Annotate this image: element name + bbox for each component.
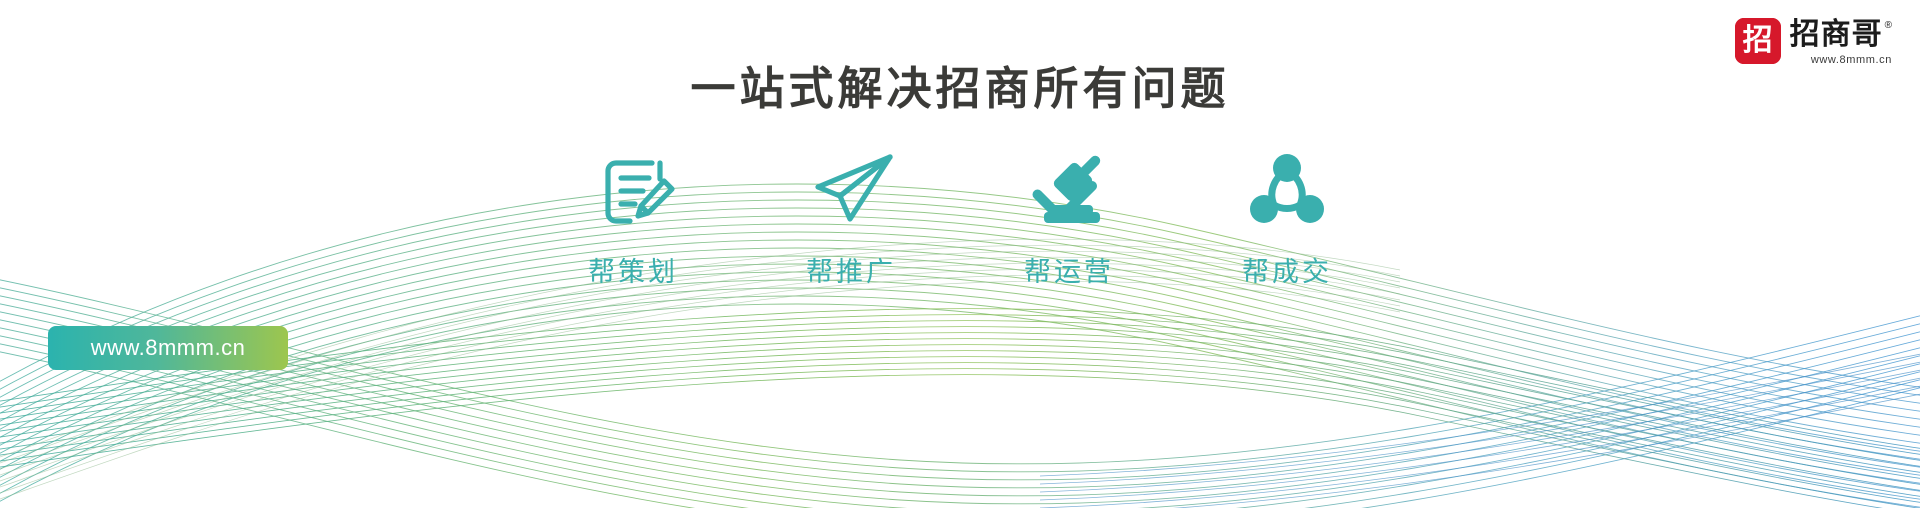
feature-label-planning: 帮策划: [588, 250, 678, 289]
feature-label-closing: 帮成交: [1242, 250, 1332, 289]
feature-item-operations[interactable]: 帮运营: [978, 140, 1160, 289]
gavel-icon: [1021, 140, 1117, 236]
logo-name-row: 招商哥 ®: [1790, 19, 1892, 51]
website-url-text: www.8mmm.cn: [91, 335, 246, 361]
network-nodes-icon: [1239, 140, 1335, 236]
promo-banner: 招 招商哥 ® www.8mmm.cn 一站式解决招商所有问题: [0, 0, 1920, 508]
feature-label-operations: 帮运营: [1024, 250, 1114, 289]
logo-name: 招商哥: [1790, 19, 1883, 51]
feature-label-promotion: 帮推广: [806, 250, 896, 289]
feature-list: 帮策划 帮推广: [542, 140, 1378, 289]
registered-mark-icon: ®: [1885, 20, 1892, 31]
feature-item-closing[interactable]: 帮成交: [1196, 140, 1378, 289]
document-pencil-icon: [585, 140, 681, 236]
website-url-badge[interactable]: www.8mmm.cn: [48, 326, 288, 370]
paper-plane-icon: [803, 140, 899, 236]
page-title: 一站式解决招商所有问题: [0, 52, 1920, 117]
feature-item-planning[interactable]: 帮策划: [542, 140, 724, 289]
feature-item-promotion[interactable]: 帮推广: [760, 140, 942, 289]
